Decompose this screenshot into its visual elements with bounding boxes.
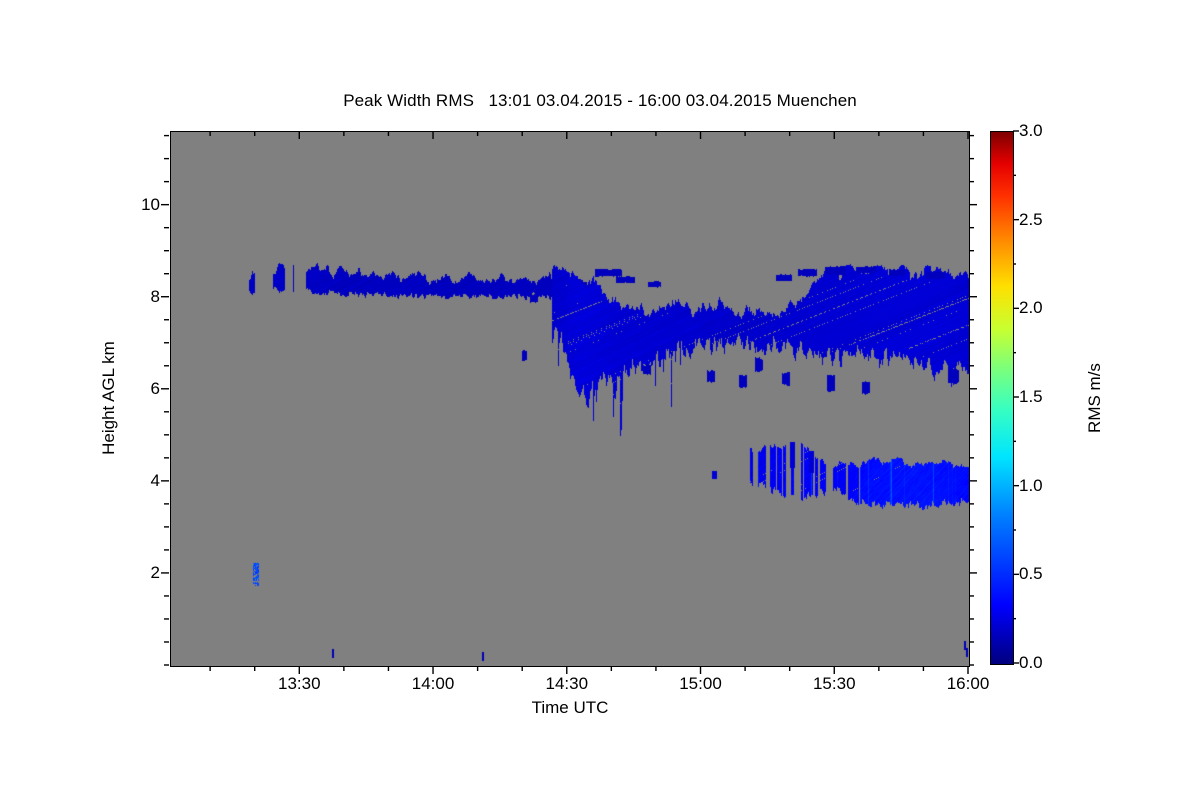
x-tick-label: 15:30 (813, 674, 856, 694)
y-tick-label: 6 (112, 379, 160, 399)
colorbar-tick-label: 0.5 (1019, 564, 1043, 584)
page-title: Peak Width RMS 13:01 03.04.2015 - 16:00 … (0, 91, 1200, 111)
colorbar-tick-label: 1.5 (1019, 387, 1043, 407)
colorbar-tick-label: 2.0 (1019, 298, 1043, 318)
y-tick-label: 8 (112, 287, 160, 307)
heatmap-data-layer (171, 132, 969, 666)
colorbar-label: RMS m/s (1085, 288, 1105, 508)
x-tick-label: 16:00 (947, 674, 990, 694)
colorbar-gradient (991, 132, 1013, 664)
colorbar-tick-label: 3.0 (1019, 121, 1043, 141)
x-tick-label: 14:00 (412, 674, 455, 694)
x-tick-label: 15:00 (679, 674, 722, 694)
plot-area[interactable] (170, 131, 970, 667)
colorbar[interactable] (990, 131, 1014, 665)
colorbar-tick-label: 2.5 (1019, 210, 1043, 230)
y-tick-label: 4 (112, 471, 160, 491)
colorbar-tick-label: 1.0 (1019, 476, 1043, 496)
colorbar-tick-label: 0.0 (1019, 653, 1043, 673)
x-axis-label: Time UTC (0, 698, 1140, 718)
y-tick-label: 10 (112, 195, 160, 215)
figure-canvas: Peak Width RMS 13:01 03.04.2015 - 16:00 … (0, 0, 1200, 800)
x-tick-label: 14:30 (545, 674, 588, 694)
x-tick-label: 13:30 (278, 674, 321, 694)
y-tick-label: 2 (112, 563, 160, 583)
